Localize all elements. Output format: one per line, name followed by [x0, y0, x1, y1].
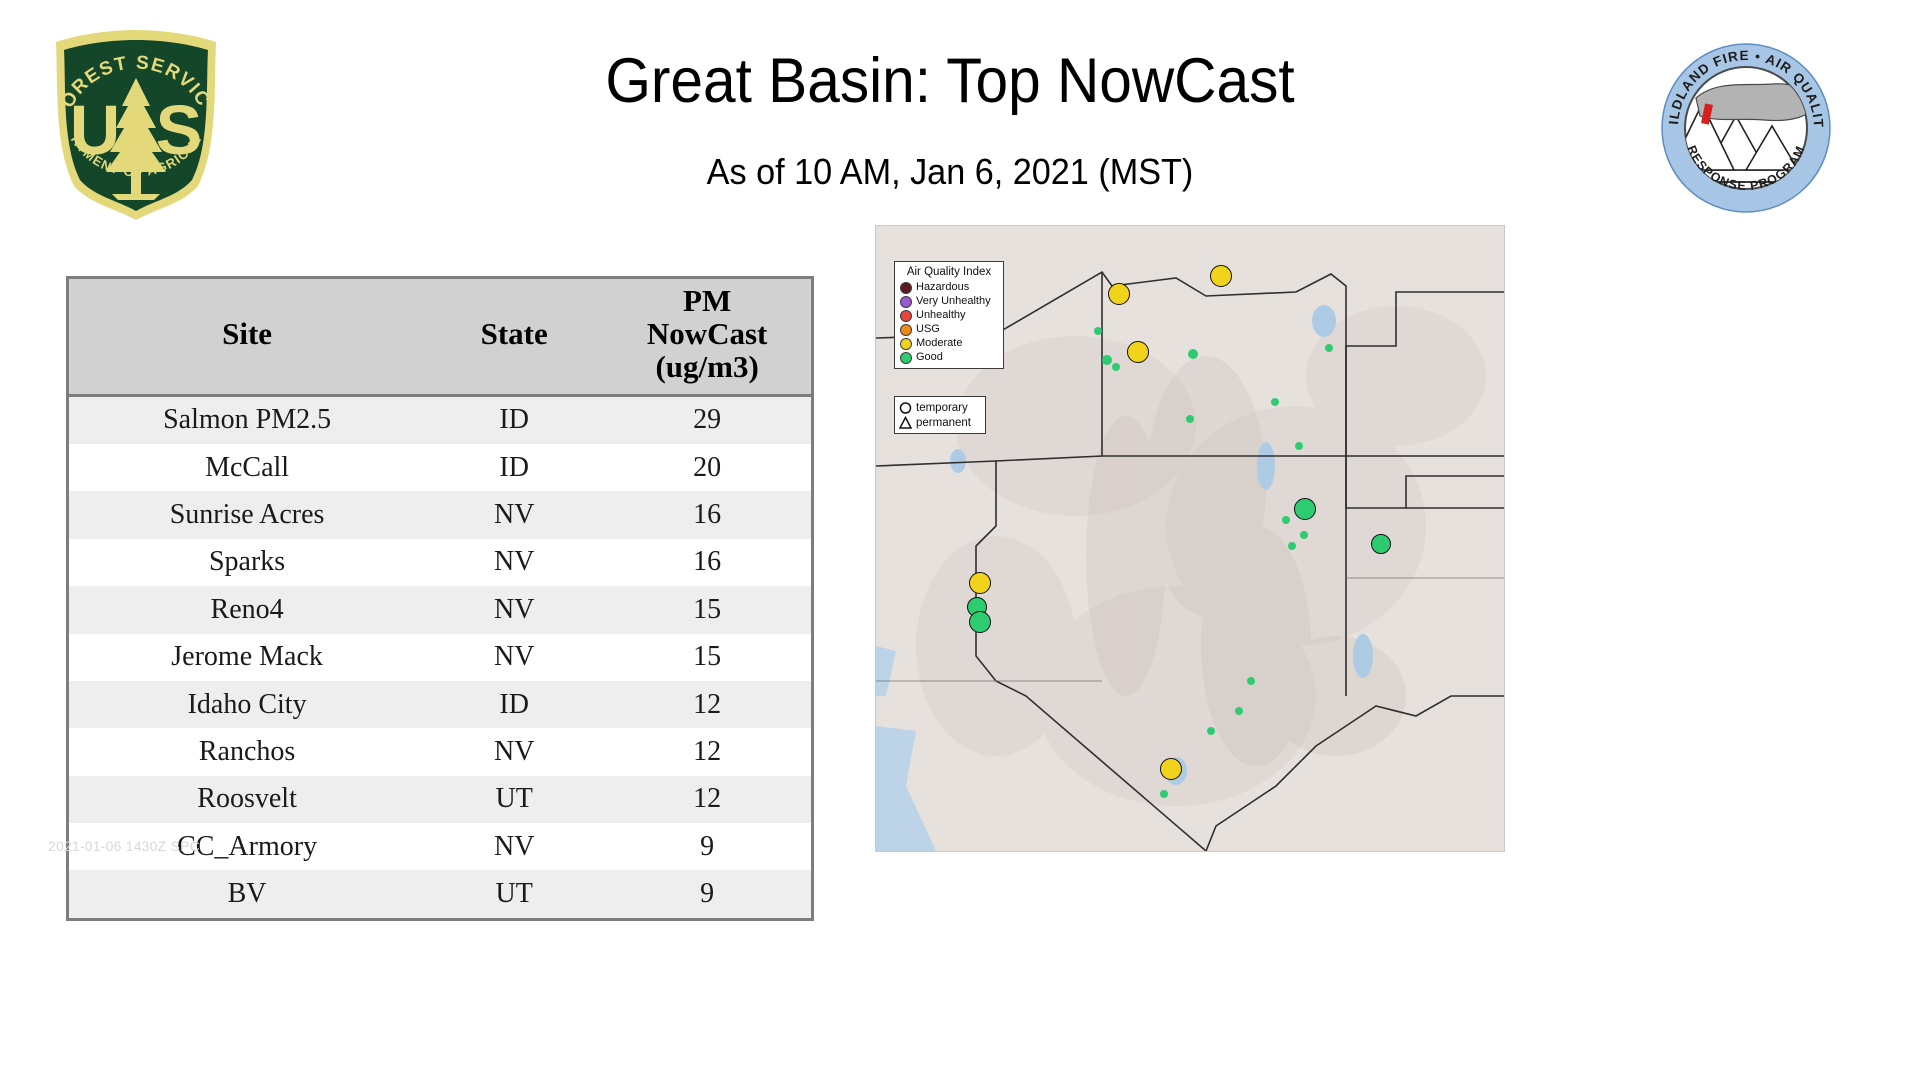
- table-row: Idaho CityID12: [69, 681, 811, 728]
- table-cell-pm: 16: [603, 491, 811, 538]
- table-row: Jerome MackNV15: [69, 634, 811, 681]
- column-header-state: State: [425, 279, 603, 395]
- legend-permanent-row: permanent: [899, 415, 981, 430]
- table-cell-state: UT: [425, 870, 603, 917]
- column-header-pm-nowcast: PM NowCast (ug/m3): [603, 279, 811, 395]
- legend-aqi-label: USG: [916, 323, 940, 336]
- table-cell-site: McCall: [69, 444, 425, 491]
- slide: FOREST SERVICE DEPARTMENT OF AGRICULTURE…: [0, 0, 1920, 1080]
- legend-aqi-swatch-icon: [900, 282, 912, 294]
- table-cell-state: NV: [425, 586, 603, 633]
- legend-aqi-row: Good: [900, 351, 998, 365]
- legend-air-quality-index: Air Quality Index HazardousVery Unhealth…: [894, 261, 1004, 369]
- table-row: RoosveltUT12: [69, 776, 811, 823]
- table-cell-site: Idaho City: [69, 681, 425, 728]
- monitor-dot[interactable]: [1207, 727, 1215, 735]
- monitor-dot[interactable]: [1295, 442, 1303, 450]
- table-cell-pm: 12: [603, 728, 811, 775]
- monitor-dot[interactable]: [969, 611, 991, 633]
- table-cell-state: NV: [425, 491, 603, 538]
- table-row: Reno4NV15: [69, 586, 811, 633]
- legend-aqi-swatch-icon: [900, 310, 912, 322]
- monitor-dot[interactable]: [1210, 265, 1232, 287]
- legend-aqi-swatch-icon: [900, 296, 912, 308]
- table-cell-state: ID: [425, 681, 603, 728]
- legend-aqi-row: USG: [900, 323, 998, 337]
- legend-aqi-label: Unhealthy: [916, 309, 966, 322]
- table-row: RanchosNV12: [69, 728, 811, 775]
- table-row: Salmon PM2.5ID29: [69, 395, 811, 444]
- table-cell-state: ID: [425, 444, 603, 491]
- circle-marker-icon: [899, 401, 912, 415]
- table-cell-pm: 12: [603, 681, 811, 728]
- table-cell-state: NV: [425, 634, 603, 681]
- legend-aqi-row: Hazardous: [900, 281, 998, 295]
- wfaqrp-logo: WILDLAND FIRE • AIR QUALITY RESPONSE PRO…: [1660, 42, 1832, 214]
- monitor-dot[interactable]: [1160, 790, 1168, 798]
- legend-aqi-label: Moderate: [916, 337, 962, 350]
- table-cell-site: BV: [69, 870, 425, 917]
- page-title: Great Basin: Top NowCast: [308, 48, 1591, 114]
- table-cell-state: NV: [425, 728, 603, 775]
- legend-aqi-swatch-icon: [900, 338, 912, 350]
- footer-note: 2021-01-06 1430Z SPC: [48, 838, 200, 854]
- legend-permanent-label: permanent: [916, 417, 971, 429]
- monitor-dot[interactable]: [1282, 516, 1290, 524]
- monitor-dot[interactable]: [1294, 498, 1316, 520]
- monitor-dot[interactable]: [1108, 283, 1130, 305]
- table-cell-pm: 16: [603, 539, 811, 586]
- table-cell-site: Sparks: [69, 539, 425, 586]
- table-row: Sunrise AcresNV16: [69, 491, 811, 538]
- table-cell-site: Salmon PM2.5: [69, 395, 425, 444]
- nowcast-table-container: Site State PM NowCast (ug/m3) Salmon PM2…: [66, 276, 814, 921]
- usfs-letter-s: S: [156, 91, 203, 169]
- monitor-dot[interactable]: [1288, 542, 1296, 550]
- legend-temporary-label: temporary: [916, 402, 968, 414]
- table-cell-pm: 9: [603, 870, 811, 917]
- column-header-pm-line3: (ug/m3): [655, 349, 758, 384]
- monitor-dot[interactable]: [1325, 344, 1333, 352]
- usfs-letter-u: U: [70, 91, 121, 169]
- table-cell-pm: 9: [603, 823, 811, 870]
- column-header-pm-line2: NowCast: [647, 316, 768, 351]
- monitor-dot[interactable]: [1112, 363, 1120, 371]
- legend-aqi-label: Very Unhealthy: [916, 295, 991, 308]
- monitor-dot[interactable]: [1371, 534, 1391, 554]
- table-cell-state: NV: [425, 823, 603, 870]
- column-header-state-line1: State: [481, 316, 548, 351]
- monitor-dot[interactable]: [1247, 677, 1255, 685]
- monitor-dot[interactable]: [1235, 707, 1243, 715]
- table-row: McCallID20: [69, 444, 811, 491]
- legend-temporary-row: temporary: [899, 400, 981, 415]
- monitor-dot[interactable]: [1102, 355, 1112, 365]
- page-subtitle: As of 10 AM, Jan 6, 2021 (MST): [295, 152, 1606, 192]
- nowcast-table: Site State PM NowCast (ug/m3) Salmon PM2…: [69, 279, 811, 918]
- table-cell-site: Jerome Mack: [69, 634, 425, 681]
- monitor-dot[interactable]: [1271, 398, 1279, 406]
- table-cell-site: Roosvelt: [69, 776, 425, 823]
- table-cell-site: Sunrise Acres: [69, 491, 425, 538]
- table-row: BVUT9: [69, 870, 811, 917]
- table-row: SparksNV16: [69, 539, 811, 586]
- table-cell-site: Ranchos: [69, 728, 425, 775]
- legend-aqi-row: Very Unhealthy: [900, 295, 998, 309]
- legend-aqi-swatch-icon: [900, 352, 912, 364]
- table-cell-state: ID: [425, 395, 603, 444]
- table-cell-pm: 15: [603, 586, 811, 633]
- monitor-dot[interactable]: [1300, 531, 1308, 539]
- monitor-dot[interactable]: [969, 572, 991, 594]
- legend-aqi-label: Hazardous: [916, 281, 969, 294]
- usfs-shield-logo: FOREST SERVICE DEPARTMENT OF AGRICULTURE…: [48, 26, 224, 224]
- legend-aqi-label: Good: [916, 351, 943, 364]
- triangle-marker-icon: [899, 416, 912, 430]
- legend-aqi-row: Unhealthy: [900, 309, 998, 323]
- legend-aqi-title: Air Quality Index: [900, 266, 998, 279]
- table-cell-pm: 15: [603, 634, 811, 681]
- column-header-pm-line1: PM: [683, 283, 731, 318]
- table-header-row: Site State PM NowCast (ug/m3): [69, 279, 811, 395]
- table-cell-pm: 12: [603, 776, 811, 823]
- monitor-dot[interactable]: [1094, 327, 1102, 335]
- column-header-site-line1: Site: [222, 316, 272, 351]
- monitor-dot[interactable]: [1127, 341, 1149, 363]
- monitor-dot[interactable]: [1186, 415, 1194, 423]
- table-cell-state: NV: [425, 539, 603, 586]
- table-cell-state: UT: [425, 776, 603, 823]
- monitor-dot[interactable]: [1188, 349, 1198, 359]
- monitor-dot[interactable]: [1160, 758, 1182, 780]
- table-header: Site State PM NowCast (ug/m3): [69, 279, 811, 395]
- column-header-site: Site: [69, 279, 425, 395]
- table-cell-site: Reno4: [69, 586, 425, 633]
- legend-monitor-type: temporary permanent: [894, 396, 986, 434]
- great-basin-map[interactable]: Air Quality Index HazardousVery Unhealth…: [875, 225, 1505, 852]
- legend-aqi-swatch-icon: [900, 324, 912, 336]
- table-cell-pm: 29: [603, 395, 811, 444]
- table-cell-pm: 20: [603, 444, 811, 491]
- legend-aqi-row: Moderate: [900, 337, 998, 351]
